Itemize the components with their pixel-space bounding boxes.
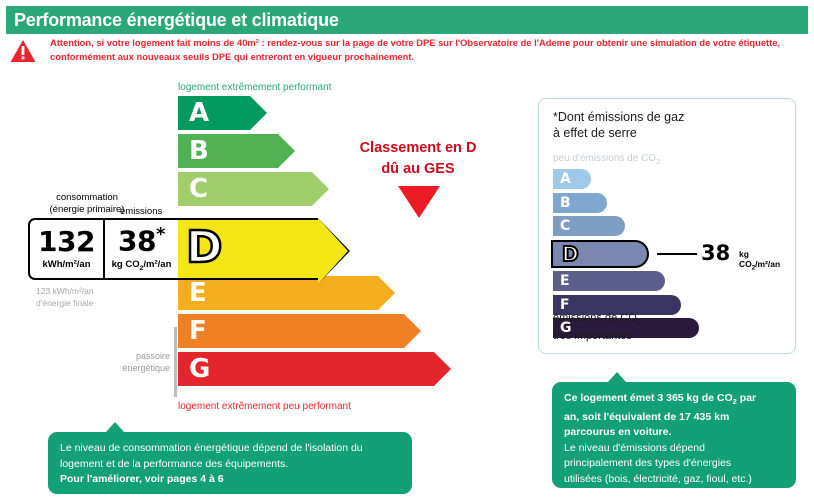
callout-right-line-1: Ce logement émet 3 365 kg de CO2 par [564, 391, 784, 410]
dpe-page: Performance énergétique et climatique At… [0, 0, 814, 498]
ges-value: 38 [701, 241, 730, 265]
energy-bar-row-f: F [178, 314, 434, 348]
callout-energy-advice: Le niveau de consommation énergétique dé… [48, 432, 412, 494]
ges-bar-row-c: C [553, 216, 699, 236]
passoire-caption: passoire énergétique [98, 350, 170, 374]
energy-bar-row-d: 132 kWh/m²/an 38* kg CO2/m²/an D [28, 218, 350, 280]
consumption-value-cell: 132 kWh/m²/an [30, 220, 105, 278]
ges-bar-d: D [551, 240, 649, 268]
emission-value-wrap: 38* [118, 226, 165, 255]
energy-bar-label-f: F [178, 318, 207, 344]
classement-line-2: dû au GES [338, 159, 498, 180]
energy-bar-label-g: G [178, 356, 210, 382]
energy-bar-label-c: C [178, 176, 208, 202]
warning-line-1: Attention, si votre logement fait moins … [50, 36, 806, 50]
ges-bar-row-e: E [553, 271, 699, 291]
ges-bar-label-b: B [553, 195, 571, 211]
callout-left-line-1: Le niveau de consommation énergétique dé… [60, 441, 400, 457]
energy-bar-tip-a [250, 96, 267, 130]
warning-text: Attention, si votre logement fait moins … [50, 36, 806, 63]
energy-bar-g: G [178, 352, 434, 386]
energy-bar-tip-e [378, 276, 395, 310]
callout-right-line-3: parcourus en voiture. [564, 425, 784, 441]
ges-footer-line-1: émissions de CO2 [553, 311, 641, 329]
ges-value-unit: kg CO2/m²/an [739, 249, 780, 272]
ges-sub-label: peu d'émissions de CO2 [553, 153, 660, 166]
ges-bar-c: C [553, 216, 625, 236]
ges-bar-label-d: D [553, 242, 579, 266]
ges-panel: *Dont émissions de gaz à effet de serre … [538, 98, 796, 354]
energy-bar-tip-g [434, 352, 451, 386]
scale-top-label: logement extrêmement performant [178, 82, 331, 93]
ges-footer-pre: émissions de CO [553, 312, 637, 324]
energy-bar-label-b: B [178, 138, 209, 164]
energy-bar-row-e: E [178, 276, 434, 310]
classement-arrow-down-icon [398, 186, 440, 218]
emission-unit: kg CO2/m²/an [112, 259, 172, 272]
consumption-caption-line-1: consommation [38, 192, 136, 204]
callout-right-nose [608, 372, 626, 382]
energy-bar-label-e: E [178, 280, 207, 306]
passoire-bracket [174, 327, 177, 397]
ges-sub-subscript: 2 [656, 157, 660, 166]
emission-unit-post: /m²/an [143, 259, 171, 270]
energy-bar-row-g: G [178, 352, 434, 386]
ges-bar-row-d: D 38 kg CO2/m²/an [553, 240, 699, 268]
ges-bar-b: B [553, 193, 607, 213]
callout-ges-advice: Ce logement émet 3 365 kg de CO2 par an,… [552, 382, 796, 488]
callout-right-line-4: Le niveau d'émissions dépend [564, 441, 784, 457]
consumption-unit: kWh/m²/an [42, 259, 90, 270]
energy-bar-f: F [178, 314, 404, 348]
page-header: Performance énergétique et climatique [6, 6, 808, 34]
ges-bar-label-e: E [553, 273, 570, 289]
energy-bar-label-a: A [178, 100, 209, 126]
ges-unit-post: /m²/an [755, 259, 780, 269]
energy-bar-tip-b [278, 134, 295, 168]
classement-note: Classement en D dû au GES [338, 138, 498, 180]
ges-footer-line-2: très importantes [553, 329, 641, 343]
warning-triangle-icon [10, 39, 36, 63]
emissions-caption: émissions [120, 206, 162, 217]
ges-footer-subscript: 2 [637, 317, 641, 326]
callout-left-line-3: Pour l'améliorer, voir pages 4 à 6 [60, 472, 400, 488]
warning-banner: Attention, si votre logement fait moins … [6, 36, 808, 70]
final-energy-line-2: d'énergie finale [36, 298, 94, 310]
value-box: 132 kWh/m²/an 38* kg CO2/m²/an [28, 218, 178, 280]
energy-bar-b: B [178, 134, 278, 168]
passoire-line-1: passoire [98, 350, 170, 362]
ges-bar-label-c: C [553, 218, 570, 234]
callout-right-line-5: principalement des types d'énergies [564, 456, 784, 472]
energy-bar-tip-c [312, 172, 329, 206]
ges-leader-line [657, 253, 697, 255]
energy-bar-a: A [178, 96, 250, 130]
ges-title: *Dont émissions de gaz à effet de serre [553, 109, 684, 141]
energy-bar-tip-f [404, 314, 421, 348]
ges-bar-label-a: A [553, 171, 571, 187]
energy-bar-row-a: A [178, 96, 434, 130]
emission-star: * [156, 224, 165, 245]
callout-right-line-1-post: par [737, 392, 756, 404]
ges-bar-row-b: B [553, 193, 699, 213]
classement-line-1: Classement en D [338, 138, 498, 159]
ges-title-line-1: *Dont émissions de gaz [553, 109, 684, 125]
emission-unit-pre: kg CO [112, 259, 140, 270]
ges-sub-pre: peu d'émissions de CO [553, 153, 656, 164]
final-energy-caption: 123 kWh/m²/an d'énergie finale [36, 286, 94, 309]
consumption-value: 132 [38, 228, 95, 256]
ges-bar-row-a: A [553, 169, 699, 189]
energy-bar-label-d: D [186, 226, 223, 270]
page-title: Performance énergétique et climatique [6, 10, 339, 31]
callout-right-line-2: an, soit l'équivalent de 17 435 km [564, 410, 784, 426]
ges-footer-label: émissions de CO2 très importantes [553, 311, 641, 343]
scale-bottom-label: logement extrêmement peu performant [178, 401, 351, 412]
ges-title-line-2: à effet de serre [553, 125, 684, 141]
callout-left-nose [106, 422, 124, 432]
passoire-line-2: énergétique [98, 362, 170, 374]
callout-right-line-6: utilisées (bois, électricité, gaz, fioul… [564, 472, 784, 488]
warning-line-2: conformément aux nouveaux seuils DPE qui… [50, 50, 806, 64]
ges-bar-a: A [553, 169, 591, 189]
ges-bar-e: E [553, 271, 665, 291]
emission-value: 38 [118, 225, 156, 258]
energy-bar-d-tip [318, 218, 348, 284]
final-energy-line-1: 123 kWh/m²/an [36, 286, 94, 298]
emission-value-cell: 38* kg CO2/m²/an [105, 220, 178, 278]
energy-bar-c: C [178, 172, 312, 206]
callout-left-line-2: logement et de la performance des équipe… [60, 457, 400, 473]
callout-right-line-1-pre: Ce logement émet 3 365 kg de CO [564, 392, 733, 404]
ges-unit-pre: kg CO [739, 249, 752, 269]
